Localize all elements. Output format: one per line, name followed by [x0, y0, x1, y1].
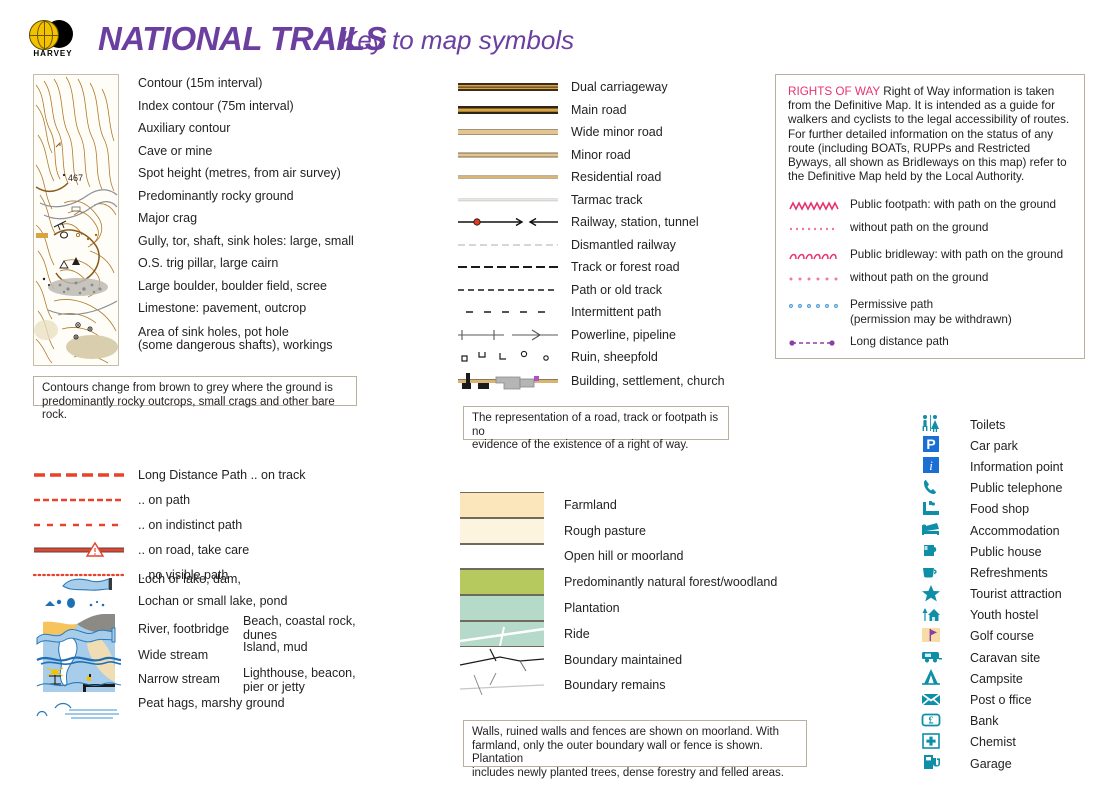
road-row: Residential road: [458, 166, 725, 189]
road-row: Main road: [458, 99, 725, 122]
row-label: without path on the ground: [850, 271, 988, 286]
water-feature-list: Loch or lake, dam, Lochan or small lake,…: [33, 572, 373, 722]
building-settlement-church-symbol: [458, 369, 558, 393]
facility-label: Garage: [970, 757, 1012, 771]
relief-label: Cave or mine: [138, 144, 378, 167]
garage-icon: [920, 753, 942, 774]
row-row: Public bridleway: with path on the groun…: [788, 248, 1072, 265]
relief-label-line2: (some dangerous shafts), workings: [138, 339, 378, 352]
facility-label: Post o ffice: [970, 693, 1032, 707]
facility-row: Accommodation: [920, 520, 1110, 541]
ruin-sheepfold-symbol: [458, 348, 558, 366]
facility-label: Youth hostel: [970, 608, 1038, 622]
star-icon: [920, 584, 942, 605]
note-row-line1: The representation of a road, track or f…: [472, 412, 720, 439]
facility-label: Accommodation: [970, 524, 1060, 538]
accommodation-icon: [920, 520, 942, 541]
land-cover-row: Rough pasture: [460, 518, 777, 544]
svg-text:P: P: [926, 436, 935, 452]
page-subtitle: Key to map symbols: [340, 25, 574, 56]
chemist-icon: [920, 732, 942, 753]
road-row: Intermittent path: [458, 301, 725, 324]
water-row: Lochan or small lake, pond: [33, 594, 373, 614]
powerline-symbol: [458, 326, 558, 344]
farmland-swatch: [460, 492, 544, 518]
road-row: Powerline, pipeline: [458, 324, 725, 347]
contour-map-sample: 467: [33, 74, 119, 366]
row-row: Public footpath: with path on the ground: [788, 198, 1072, 215]
water-label: Loch or lake, dam,: [138, 572, 241, 586]
facility-row: Toilets: [920, 414, 1110, 435]
road-row: Minor road: [458, 144, 725, 167]
land-cover-label: Ride: [564, 627, 590, 641]
relief-label-list: Contour (15m interval) Index contour (75…: [138, 76, 378, 354]
toilets-icon: [920, 414, 942, 435]
road-label: Main road: [571, 103, 627, 117]
campsite-icon: [920, 668, 942, 689]
railway-symbol: [458, 213, 558, 231]
land-cover-row: Farmland: [460, 492, 777, 518]
note-contours-line2: predominantly rocky outcrops, small crag…: [42, 396, 348, 423]
land-cover-row: Predominantly natural forest/woodland: [460, 569, 777, 595]
ldp-row: .. on path: [33, 487, 373, 512]
permissive-path-symbol: [788, 301, 850, 315]
relief-label-line1: Area of sink holes, pot hole: [138, 326, 378, 339]
facility-row: Food shop: [920, 499, 1110, 520]
wide-minor-road-symbol: [458, 123, 558, 141]
public-bridleway-dots-symbol: [788, 274, 850, 288]
rights-of-way-body: Right of Way information is taken from t…: [788, 85, 1069, 183]
harvey-logo: HARVEY: [27, 20, 89, 60]
facility-label: Refreshments: [970, 566, 1048, 580]
facility-row: Public telephone: [920, 478, 1110, 499]
dismantled-railway-symbol: [458, 236, 558, 254]
note-right-of-way: The representation of a road, track or f…: [463, 406, 729, 440]
ldp-row: .. on road, take care: [33, 537, 373, 562]
svg-text:i: i: [929, 458, 933, 473]
main-road-symbol: [458, 101, 558, 119]
facility-label: Food shop: [970, 502, 1029, 516]
water-label: Lighthouse, beacon, pier or jetty: [243, 666, 373, 692]
relief-label: O.S. trig pillar, large cairn: [138, 256, 378, 279]
row-row: Long distance path: [788, 335, 1072, 352]
land-cover-row: Plantation: [460, 595, 777, 621]
rights-of-way-intro: RIGHTS OF WAY Right of Way information i…: [788, 85, 1072, 184]
ldp-long-dash-symbol: [33, 465, 125, 485]
facility-row: Caravan site: [920, 647, 1110, 668]
lochan-symbol: [33, 594, 125, 614]
facility-row: i Information point: [920, 456, 1110, 477]
logo-brand-text: HARVEY: [27, 49, 79, 58]
water-row: Peat hags, marshy ground: [33, 696, 373, 722]
note-walls-line3: includes newly planted trees, dense fore…: [472, 767, 798, 781]
facility-label: Car park: [970, 439, 1018, 453]
rights-of-way-heading: RIGHTS OF WAY: [788, 85, 880, 98]
map-key-page: HARVEY NATIONAL TRAILS Key to map symbol…: [0, 0, 1112, 800]
water-label: Narrow stream: [138, 672, 220, 686]
row-label-secondary: (permission may be withdrawn): [850, 313, 1012, 328]
road-label: Building, settlement, church: [571, 374, 725, 388]
facility-row: Refreshments: [920, 562, 1110, 583]
car-park-icon: P: [920, 435, 942, 456]
relief-label: Gully, tor, shaft, sink holes: large, sm…: [138, 234, 378, 257]
facility-row: Youth hostel: [920, 605, 1110, 626]
ride-swatch: [460, 621, 544, 647]
relief-label-multiline: Area of sink holes, pot hole (some dange…: [138, 324, 378, 354]
note-walls: Walls, ruined walls and fences are shown…: [463, 720, 807, 767]
land-cover-row: Boundary maintained: [460, 647, 777, 673]
facility-row: Golf course: [920, 626, 1110, 647]
road-row: Dual carriageway: [458, 76, 725, 99]
facility-row: £ Bank: [920, 711, 1110, 732]
land-cover-label: Open hill or moorland: [564, 549, 684, 563]
food-shop-icon: [920, 499, 942, 520]
road-row: Dismantled railway: [458, 234, 725, 257]
facility-row: Post o ffice: [920, 689, 1110, 710]
logo-globe-icon: [29, 20, 59, 50]
facility-row: Public house: [920, 541, 1110, 562]
svg-text:467: 467: [68, 173, 83, 183]
bank-icon: £: [920, 711, 942, 732]
facility-label: Golf course: [970, 629, 1034, 643]
road-label: Track or forest road: [571, 260, 680, 274]
ldp-dash-symbol: [33, 490, 125, 510]
road-label: Minor road: [571, 148, 631, 162]
page-header: HARVEY NATIONAL TRAILS Key to map symbol…: [0, 0, 1112, 68]
row-row: Permissive path (permission may be withd…: [788, 298, 1072, 327]
ldp-road-warning-symbol: [33, 540, 125, 560]
facility-label: Chemist: [970, 735, 1016, 749]
rights-of-way-panel: RIGHTS OF WAY Right of Way information i…: [775, 74, 1085, 359]
facility-label: Tourist attraction: [970, 587, 1062, 601]
row-label: Long distance path: [850, 335, 949, 350]
tarmac-track-symbol: [458, 191, 558, 209]
land-cover-list: Farmland Rough pasture Open hill or moor…: [460, 492, 777, 698]
facility-label: Public house: [970, 545, 1042, 559]
relief-label: Major crag: [138, 211, 378, 234]
land-cover-label: Boundary remains: [564, 678, 665, 692]
facility-label: Bank: [970, 714, 999, 728]
ldp-label: .. on path: [138, 493, 190, 507]
land-cover-label: Farmland: [564, 498, 617, 512]
road-label: Dual carriageway: [571, 80, 668, 94]
road-row: Path or old track: [458, 279, 725, 302]
relief-label: Auxiliary contour: [138, 121, 378, 144]
ldp-row: .. on indistinct path: [33, 512, 373, 537]
relief-label: Spot height (metres, from air survey): [138, 166, 378, 189]
river-footbridge-symbol: [33, 622, 125, 648]
row-label: Public footpath: with path on the ground: [850, 198, 1056, 213]
land-cover-label: Rough pasture: [564, 524, 646, 538]
row-label: without path on the ground: [850, 221, 988, 236]
ldp-label: .. on road, take care: [138, 543, 249, 557]
track-symbol: [458, 258, 558, 276]
road-row: Ruin, sheepfold: [458, 346, 725, 369]
water-label: Island, mud: [243, 640, 373, 666]
relief-label: Contour (15m interval): [138, 76, 378, 99]
facility-label: Campsite: [970, 672, 1023, 686]
road-row: Railway, station, tunnel: [458, 211, 725, 234]
row-label: Public bridleway: with path on the groun…: [850, 248, 1063, 263]
road-label: Intermittent path: [571, 305, 661, 319]
facility-label: Public telephone: [970, 481, 1062, 495]
boundary-remains-symbol: [460, 673, 544, 699]
water-label: Peat hags, marshy ground: [138, 696, 285, 710]
public-footpath-dots-symbol: [788, 224, 850, 238]
facility-row: Garage: [920, 753, 1110, 774]
row-row: without path on the ground: [788, 271, 1072, 288]
boundary-maintained-symbol: [460, 647, 544, 673]
water-label: Lochan or small lake, pond: [138, 594, 287, 608]
road-label: Wide minor road: [571, 125, 663, 139]
note-contours: Contours change from brown to grey where…: [33, 376, 357, 406]
woodland-swatch: [460, 569, 544, 595]
facilities-list: Toilets P Car park i Information point: [920, 414, 1110, 774]
ldp-row: Long Distance Path .. on track: [33, 462, 373, 487]
road-label: Residential road: [571, 170, 661, 184]
facility-row: Chemist: [920, 732, 1110, 753]
note-walls-line2: farmland, only the outer boundary wall o…: [472, 740, 798, 767]
roads-list: Dual carriageway Main road Wide minor ro…: [458, 76, 725, 393]
youth-hostel-icon: [920, 605, 942, 626]
note-row-line2: evidence of the existence of a right of …: [472, 439, 720, 453]
water-label: Beach, coastal rock, dunes: [243, 614, 373, 640]
dual-carriageway-symbol: [458, 78, 558, 96]
road-label: Powerline, pipeline: [571, 328, 676, 342]
rough-pasture-swatch: [460, 518, 544, 544]
ldp-short-dash-symbol: [33, 515, 125, 535]
relief-label: Limestone: pavement, outcrop: [138, 301, 378, 324]
row-row: without path on the ground: [788, 221, 1072, 238]
narrow-stream-symbol: [33, 672, 125, 696]
residential-road-symbol: [458, 168, 558, 186]
svg-text:£: £: [929, 715, 934, 726]
facility-label: Toilets: [970, 418, 1005, 432]
public-footpath-zigzag-symbol: [788, 201, 850, 215]
public-bridleway-zigzag-symbol: [788, 251, 850, 265]
water-row: Loch or lake, dam,: [33, 572, 373, 594]
path-symbol: [458, 281, 558, 299]
ldp-label: Long Distance Path .. on track: [138, 468, 305, 482]
peat-hags-symbol: [33, 696, 125, 722]
open-hill-swatch: [460, 544, 544, 570]
refreshments-icon: [920, 562, 942, 583]
public-house-icon: [920, 541, 942, 562]
telephone-icon: [920, 478, 942, 499]
post-office-icon: [920, 690, 942, 711]
facility-row: P Car park: [920, 435, 1110, 456]
caravan-icon: [920, 647, 942, 668]
loch-symbol: [33, 572, 125, 594]
information-icon: i: [920, 456, 942, 477]
road-row: Track or forest road: [458, 256, 725, 279]
facility-row: Tourist attraction: [920, 584, 1110, 605]
permissive-path-labels: Permissive path (permission may be withd…: [850, 298, 1012, 327]
road-label: Dismantled railway: [571, 238, 676, 252]
road-label: Railway, station, tunnel: [571, 215, 699, 229]
road-row: Tarmac track: [458, 189, 725, 212]
land-cover-row: Open hill or moorland: [460, 544, 777, 570]
wide-stream-symbol: [33, 648, 125, 672]
note-contours-line1: Contours change from brown to grey where…: [42, 382, 348, 396]
relief-label: Predominantly rocky ground: [138, 189, 378, 212]
land-cover-label: Predominantly natural forest/woodland: [564, 575, 777, 589]
road-row: Building, settlement, church: [458, 369, 725, 393]
road-label: Path or old track: [571, 283, 662, 297]
intermittent-path-symbol: [458, 303, 558, 321]
ldp-label: .. on indistinct path: [138, 518, 242, 532]
golf-course-icon: [920, 626, 942, 647]
long-distance-path-list: Long Distance Path .. on track .. on pat…: [33, 462, 373, 587]
land-cover-row: Boundary remains: [460, 673, 777, 699]
road-label: Ruin, sheepfold: [571, 350, 658, 364]
facility-label: Information point: [970, 460, 1063, 474]
relief-label: Index contour (75m interval): [138, 99, 378, 122]
water-label: River, footbridge: [138, 622, 229, 636]
plantation-swatch: [460, 595, 544, 621]
facility-row: Campsite: [920, 668, 1110, 689]
road-row: Wide minor road: [458, 121, 725, 144]
long-distance-path-symbol: [788, 338, 850, 352]
land-cover-label: Plantation: [564, 601, 620, 615]
road-label: Tarmac track: [571, 193, 643, 207]
minor-road-symbol: [458, 146, 558, 164]
row-label: Permissive path: [850, 298, 1012, 313]
water-label: Wide stream: [138, 648, 208, 662]
land-cover-row: Ride: [460, 621, 777, 647]
facility-label: Caravan site: [970, 651, 1040, 665]
note-walls-line1: Walls, ruined walls and fences are shown…: [472, 726, 798, 740]
land-cover-label: Boundary maintained: [564, 653, 682, 667]
relief-label: Large boulder, boulder field, scree: [138, 279, 378, 302]
